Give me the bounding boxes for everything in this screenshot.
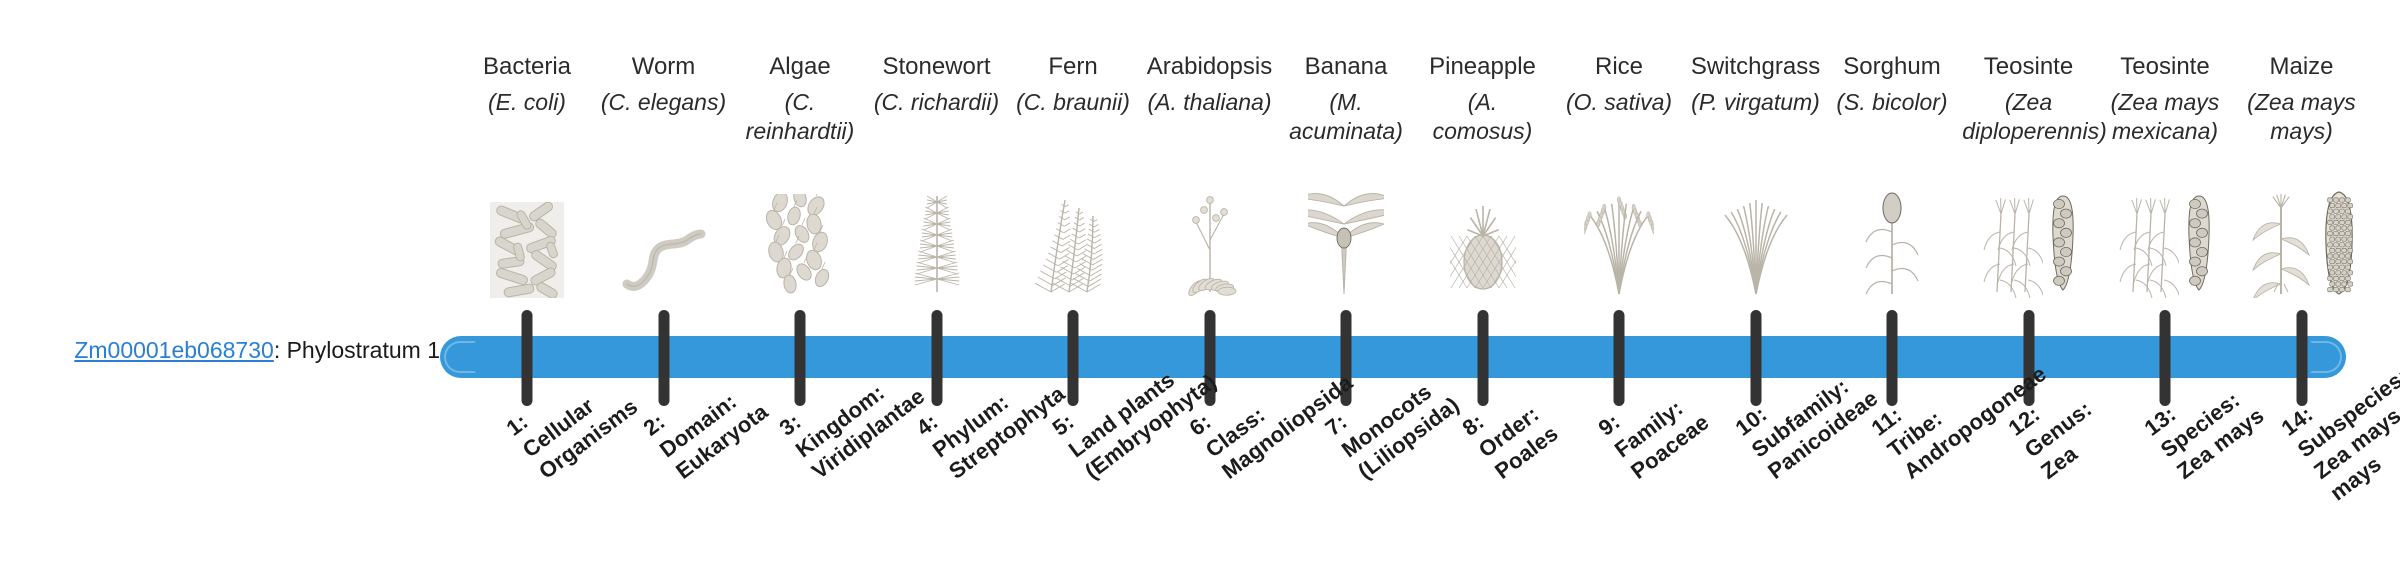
gene-id-link[interactable]: Zm00001eb068730 xyxy=(74,337,274,363)
species-scientific-name: (M. acuminata) xyxy=(1280,88,1413,146)
column-header-6: Arabidopsis(A. thaliana) xyxy=(1143,52,1276,117)
column-header-9: Rice(O. sativa) xyxy=(1553,52,1686,117)
gene-label-separator: : xyxy=(274,337,287,363)
phylostratum-tick-10[interactable] xyxy=(1750,310,1761,406)
phylostratum-tick-5[interactable] xyxy=(1068,310,1079,406)
species-scientific-name: (C. reinhardtii) xyxy=(734,88,867,146)
phylostratum-tick-2[interactable] xyxy=(658,310,669,406)
column-header-11: Sorghum(S. bicolor) xyxy=(1826,52,1959,117)
phylostratum-tick-3[interactable] xyxy=(795,310,806,406)
species-scientific-name: (A. comosus) xyxy=(1416,88,1549,146)
column-header-13: Teosinte(Zea mays mexicana) xyxy=(2099,52,2232,146)
species-scientific-name: (O. sativa) xyxy=(1553,88,1686,117)
phylostratum-tick-14[interactable] xyxy=(2296,310,2307,406)
species-common-name: Pineapple xyxy=(1416,52,1549,82)
column-header-1: Bacteria(E. coli) xyxy=(461,52,594,117)
species-common-name: Maize xyxy=(2235,52,2368,82)
column-header-12: Teosinte(Zea diploperennis) xyxy=(1962,52,2095,146)
algae-icon xyxy=(766,168,834,298)
species-scientific-name: (S. bicolor) xyxy=(1826,88,1959,117)
phylostratum-tick-8[interactable] xyxy=(1477,310,1488,406)
switchgrass-icon xyxy=(1719,168,1793,298)
species-common-name: Banana xyxy=(1280,52,1413,82)
worm-icon xyxy=(621,168,707,298)
species-scientific-name: (C. elegans) xyxy=(597,88,730,117)
phylostratum-tick-1[interactable] xyxy=(522,310,533,406)
phylostratum-tick-4[interactable] xyxy=(931,310,942,406)
species-common-name: Bacteria xyxy=(461,52,594,82)
species-scientific-name: (Zea diploperennis) xyxy=(1962,88,2095,146)
species-common-name: Rice xyxy=(1553,52,1686,82)
bacteria-icon xyxy=(490,168,564,298)
pineapple-icon xyxy=(1450,168,1516,298)
species-common-name: Algae xyxy=(734,52,867,82)
gene-phylostratum-label: Zm00001eb068730: Phylostratum 1 xyxy=(0,336,440,364)
phylostratum-label-8: 8: Order: Poales xyxy=(1457,377,1563,485)
sorghum-icon xyxy=(1858,168,1926,298)
species-scientific-name: (E. coli) xyxy=(461,88,594,117)
teosinte-diploperennis-icon xyxy=(1981,168,2077,298)
phylostratum-tick-11[interactable] xyxy=(1887,310,1898,406)
maize-icon xyxy=(2248,168,2356,298)
species-common-name: Sorghum xyxy=(1826,52,1959,82)
species-common-name: Teosinte xyxy=(2099,52,2232,82)
species-common-name: Teosinte xyxy=(1962,52,2095,82)
phylostratum-track: Bacteria(E. coli)Worm(C. elegans)Algae(C… xyxy=(440,0,2400,580)
arabidopsis-icon xyxy=(1176,168,1244,298)
species-scientific-name: (Zea mays mays) xyxy=(2235,88,2368,146)
species-scientific-name: (P. virgatum) xyxy=(1689,88,1822,117)
teosinte-mexicana-icon xyxy=(2117,168,2213,298)
stonewort-icon xyxy=(904,168,970,298)
species-common-name: Fern xyxy=(1007,52,1140,82)
column-header-4: Stonewort(C. richardii) xyxy=(870,52,1003,117)
banana-icon xyxy=(1308,168,1384,298)
species-scientific-name: (A. thaliana) xyxy=(1143,88,1276,117)
species-scientific-name: (C. braunii) xyxy=(1007,88,1140,117)
column-header-2: Worm(C. elegans) xyxy=(597,52,730,117)
species-common-name: Switchgrass xyxy=(1689,52,1822,82)
bar-right-cap-arc xyxy=(2310,341,2342,373)
species-common-name: Arabidopsis xyxy=(1143,52,1276,82)
phylostratum-tick-13[interactable] xyxy=(2160,310,2171,406)
fern-icon xyxy=(1035,168,1111,298)
gene-phylostratum-value: Phylostratum 1 xyxy=(287,337,440,363)
species-scientific-name: (C. richardii) xyxy=(870,88,1003,117)
phylostratum-label-9: 9: Family: Poaceae xyxy=(1593,365,1714,484)
rice-icon xyxy=(1584,168,1654,298)
column-header-8: Pineapple(A. comosus) xyxy=(1416,52,1549,146)
species-common-name: Worm xyxy=(597,52,730,82)
column-header-14: Maize(Zea mays mays) xyxy=(2235,52,2368,146)
column-header-10: Switchgrass(P. virgatum) xyxy=(1689,52,1822,117)
phylostratum-tick-9[interactable] xyxy=(1614,310,1625,406)
column-header-7: Banana(M. acuminata) xyxy=(1280,52,1413,146)
bar-left-cap-arc xyxy=(444,341,476,373)
species-common-name: Stonewort xyxy=(870,52,1003,82)
column-header-5: Fern(C. braunii) xyxy=(1007,52,1140,117)
column-header-3: Algae(C. reinhardtii) xyxy=(734,52,867,146)
species-scientific-name: (Zea mays mexicana) xyxy=(2099,88,2232,146)
